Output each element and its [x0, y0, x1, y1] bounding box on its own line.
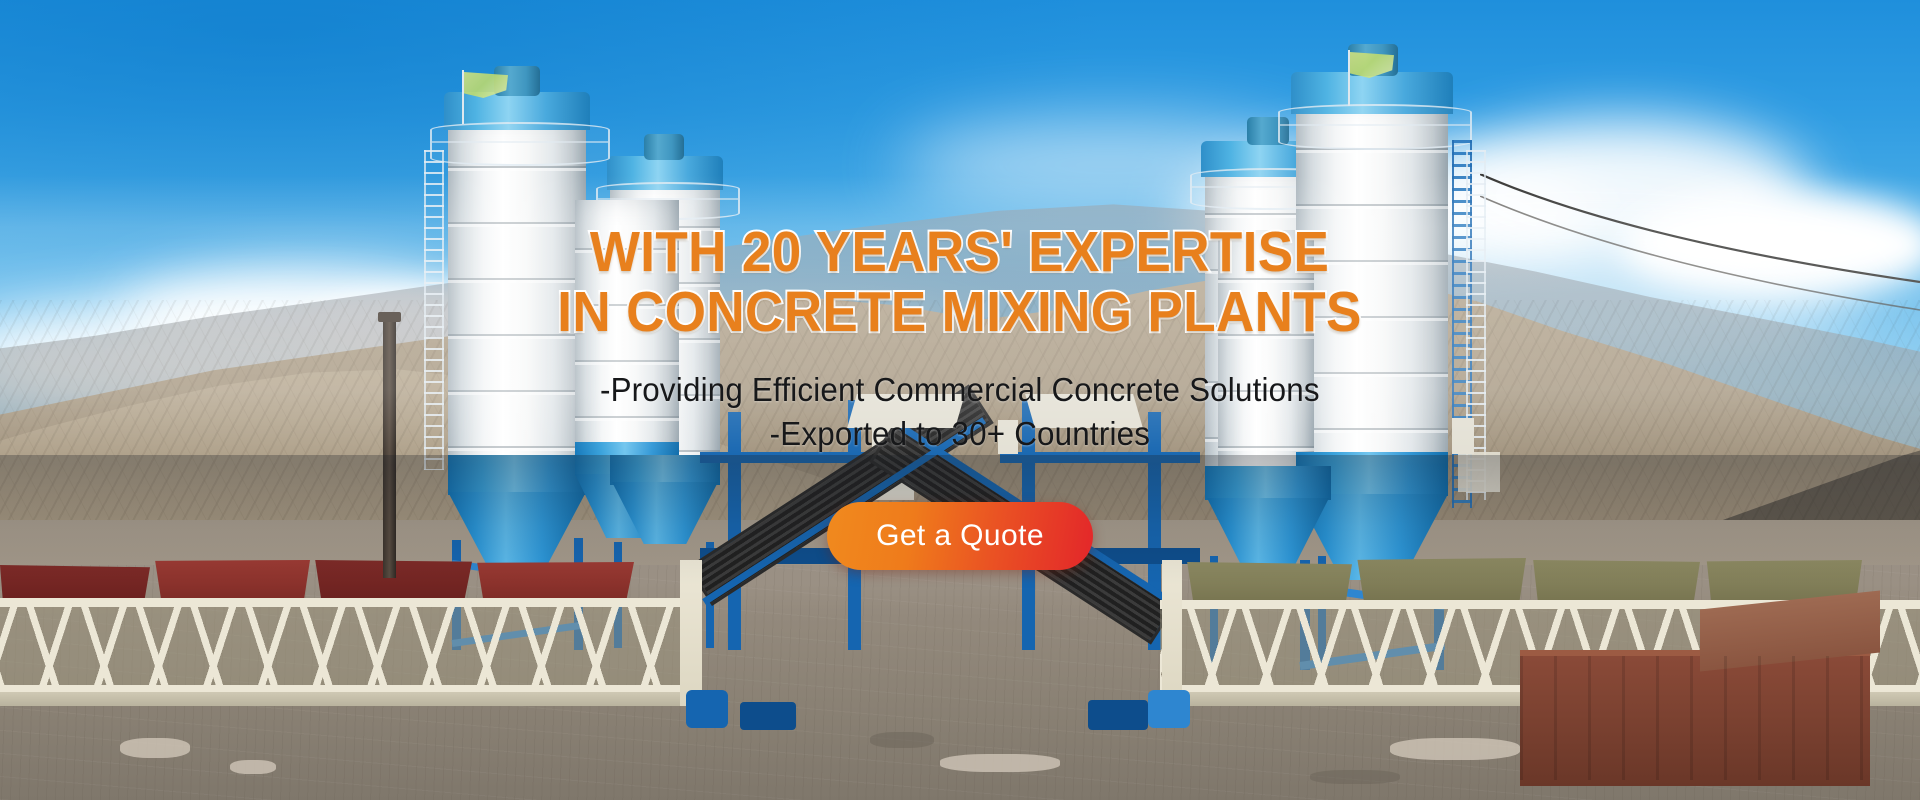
banner-subheadline: -Providing Efficient Commercial Concrete… — [600, 368, 1320, 456]
banner-content: WITH 20 YEARS' EXPERTISE IN CONCRETE MIX… — [0, 0, 1920, 800]
get-a-quote-button[interactable]: Get a Quote — [827, 502, 1093, 570]
banner-headline: WITH 20 YEARS' EXPERTISE IN CONCRETE MIX… — [558, 222, 1362, 342]
hero-banner: WITH 20 YEARS' EXPERTISE IN CONCRETE MIX… — [0, 0, 1920, 800]
